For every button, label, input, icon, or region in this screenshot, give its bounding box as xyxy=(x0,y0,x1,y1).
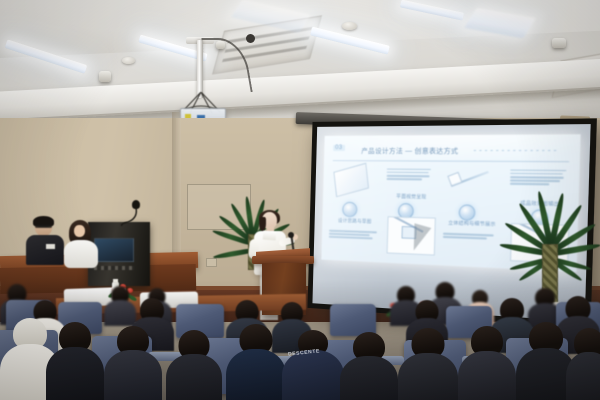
slide-text-lines xyxy=(387,167,437,182)
smoke-detector-icon xyxy=(122,57,135,64)
microphone-head-icon xyxy=(132,200,140,209)
circle-step-icon xyxy=(458,204,475,220)
slide-caption: 平面视觉呈现 xyxy=(384,193,439,200)
ceiling-spotlight-icon xyxy=(99,71,111,82)
slide-caption: 设计思路与草图 xyxy=(329,217,381,225)
smoke-detector-icon xyxy=(342,22,357,30)
gooseneck-microphone xyxy=(118,200,140,226)
audience-member-front xyxy=(46,322,104,400)
slide-thumb-triangle xyxy=(414,223,432,251)
cable-hook-icon xyxy=(246,34,255,43)
audience-member-front xyxy=(458,326,516,400)
audience-member-front xyxy=(104,326,162,400)
av-controls xyxy=(94,266,134,270)
name-badge xyxy=(46,244,55,249)
podium-microphone-head-icon xyxy=(288,232,294,238)
slide-column: 平面视觉呈现 xyxy=(382,166,439,260)
glasses-icon xyxy=(35,225,52,228)
slide-text-lines xyxy=(443,231,501,241)
audience-member-front xyxy=(398,328,458,400)
slide-column: 立体结构与细节展示 xyxy=(442,166,502,263)
slide-column: 设计思路与草图 xyxy=(328,165,383,257)
slide-caption: 立体结构与细节展示 xyxy=(443,220,501,228)
panelist-2 xyxy=(62,220,102,266)
audience-member-front xyxy=(340,332,398,400)
projector-pole xyxy=(197,40,203,98)
slide-number: 03 xyxy=(333,145,344,151)
slide-title-bar: 03 产品设计方法 — 创意表达方式 xyxy=(333,144,570,163)
slide-title: 产品设计方法 — 创意表达方式 xyxy=(361,144,458,155)
presenter-hair-side xyxy=(259,217,266,231)
slide-title-rule xyxy=(474,150,559,151)
panelist-face xyxy=(74,225,85,237)
presenter-collar xyxy=(263,231,277,241)
panelist-jacket xyxy=(64,240,98,268)
audience-member-front xyxy=(166,330,222,400)
panelist-1 xyxy=(26,218,66,264)
slide-text-lines xyxy=(328,228,380,241)
circle-step-icon xyxy=(342,202,357,218)
ceiling-spotlight-icon xyxy=(552,38,566,48)
slide-sketch-shape xyxy=(333,163,369,198)
slide-tool-shape xyxy=(450,172,491,186)
audience-member-front xyxy=(566,328,600,400)
slide-thumbnail xyxy=(387,216,436,255)
audience-member-front xyxy=(226,324,286,400)
audience-member-descente: DESCENTE xyxy=(282,330,344,400)
panelist-jacket xyxy=(26,235,64,265)
wall-outlet xyxy=(206,258,217,267)
photo-scene: 03 产品设计方法 — 创意表达方式 设计思路与草图 xyxy=(0,0,600,400)
